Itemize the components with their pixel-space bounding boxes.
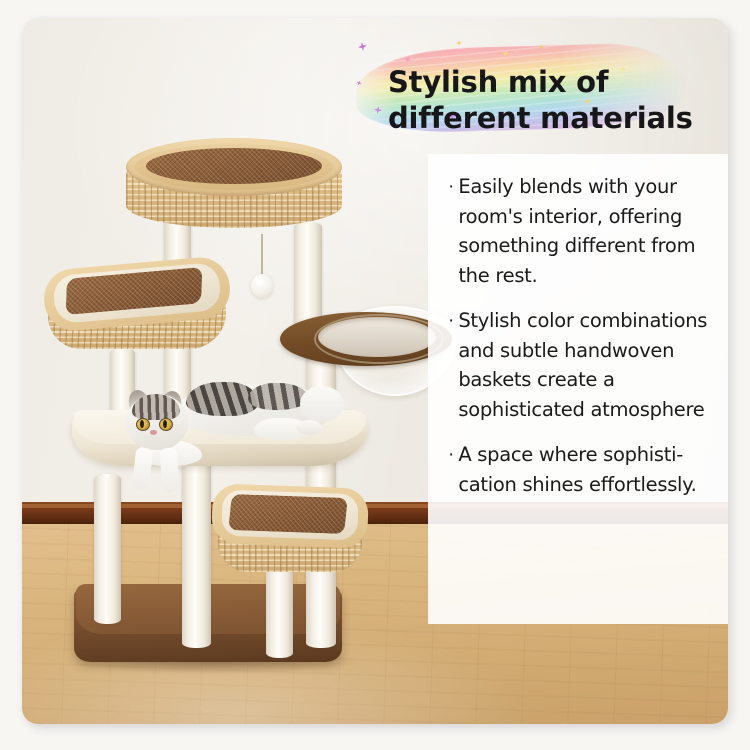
cat	[114, 382, 346, 490]
headline-block: Stylish mix of different materials	[352, 36, 728, 156]
bullet-marker: ·	[448, 172, 454, 201]
cat-front-paw-left	[132, 447, 153, 491]
pompom-string	[261, 234, 263, 278]
hanging-pompom-toy	[251, 274, 273, 298]
cat-rump	[300, 386, 344, 422]
bullet-marker: ·	[448, 440, 454, 469]
bottom-basket	[212, 486, 368, 590]
top-basket-mat	[146, 148, 322, 184]
cat-tabby-marking-rear	[248, 383, 308, 410]
bullet-text: A space where sophisti- cation shines ef…	[458, 440, 696, 499]
sisal-post-rear-left	[94, 474, 121, 624]
cat-front-paw-right	[159, 447, 179, 492]
list-item: · Stylish color combinations and subtle …	[448, 306, 716, 424]
cat-back-paw	[296, 420, 322, 435]
feature-bullet-panel: · Easily blends with your room's interio…	[428, 154, 728, 624]
list-item: · Easily blends with your room's interio…	[448, 172, 716, 290]
cat-pupil-left	[140, 420, 144, 428]
bullet-marker: ·	[448, 306, 454, 335]
bullet-text: Easily blends with your room's interior,…	[458, 172, 695, 290]
sparkle-star-icon	[456, 40, 462, 46]
product-feature-card: · Easily blends with your room's interio…	[22, 18, 728, 724]
bullet-text: Stylish color combinations and subtle ha…	[458, 306, 707, 424]
cat-pupil-right	[163, 420, 167, 428]
top-oval-basket	[126, 138, 342, 236]
bowl-rim-edge	[314, 314, 444, 364]
list-item: · A space where sophisti- cation shines …	[448, 440, 716, 499]
clear-bowl-shelf	[280, 296, 452, 396]
page-title: Stylish mix of different materials	[388, 64, 728, 136]
bottom-basket-mat	[228, 494, 348, 534]
mid-left-basket	[44, 263, 230, 363]
cat-nose	[150, 430, 157, 435]
